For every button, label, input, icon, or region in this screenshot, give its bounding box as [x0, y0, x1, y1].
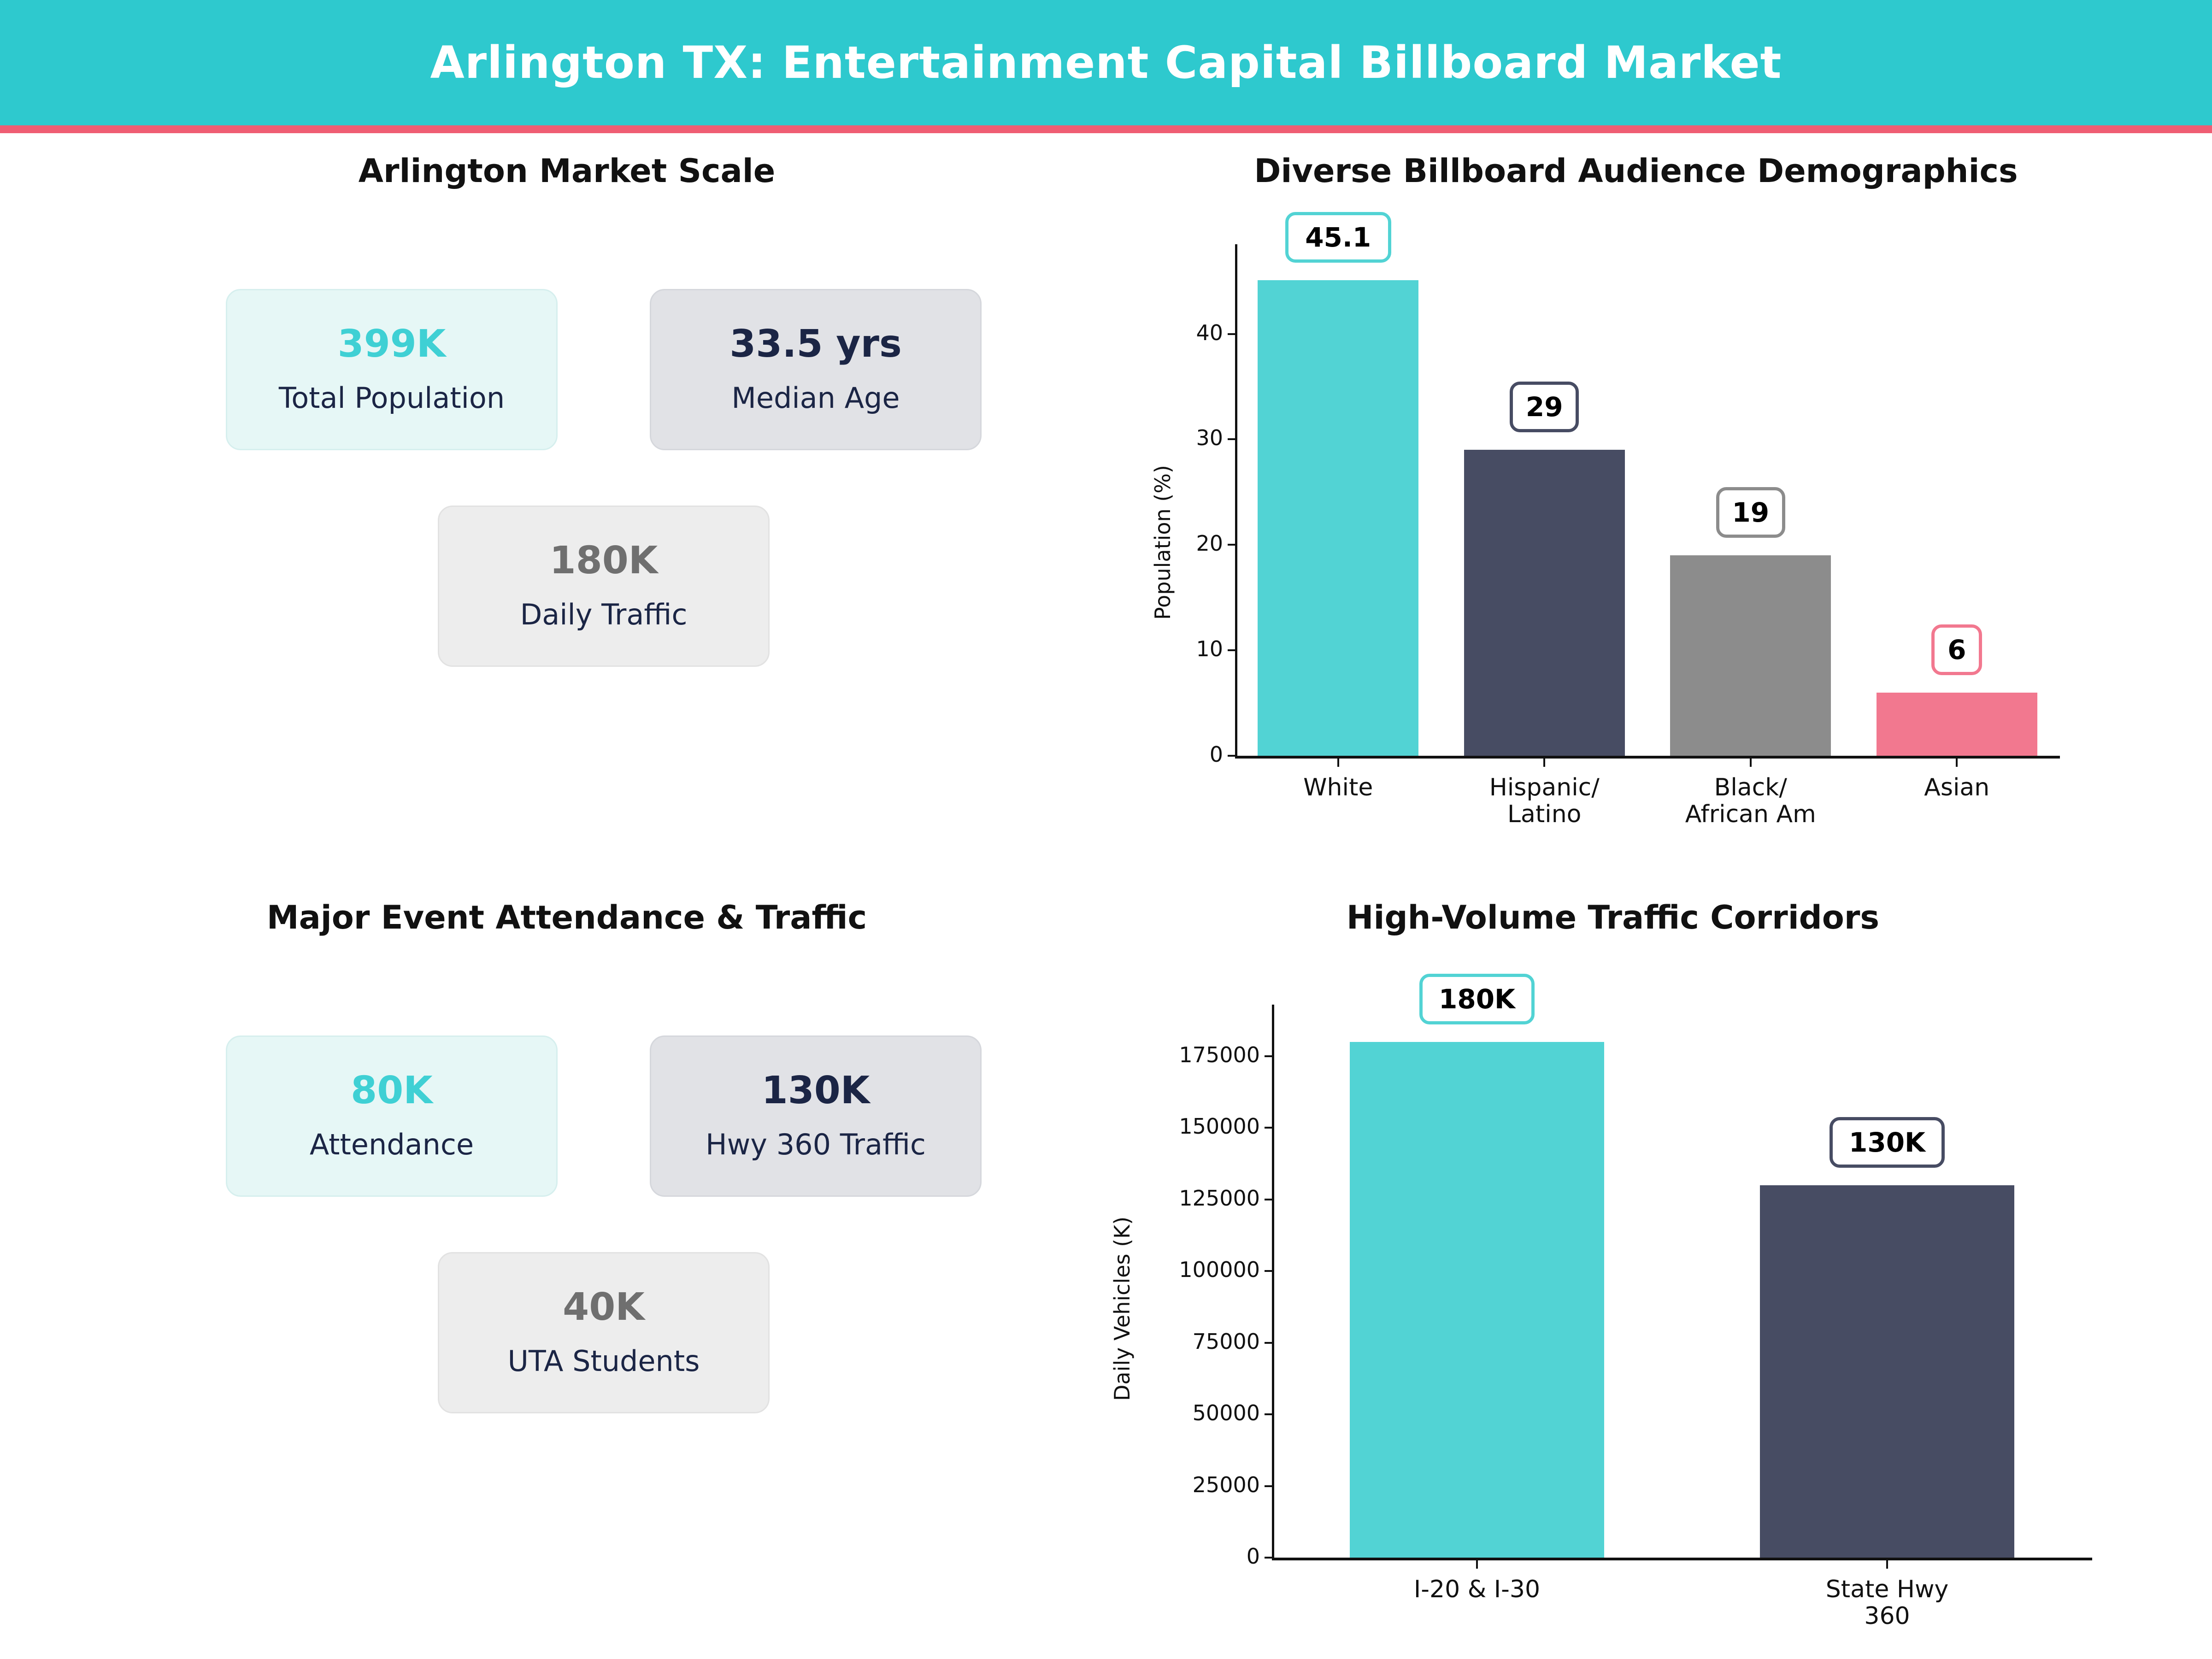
x-axis-tick-mark — [1956, 759, 1958, 767]
market-scale-cards: 399K Total Population 33.5 yrs Median Ag… — [226, 289, 1101, 750]
kpi-label: Attendance — [310, 1128, 474, 1161]
kpi-value: 130K — [762, 1071, 870, 1111]
y-axis-tick-mark — [1228, 333, 1235, 335]
y-axis-tick-mark — [1265, 1055, 1272, 1057]
y-axis-tick-label: 50000 — [1103, 1400, 1260, 1425]
x-axis-tick-mark — [1750, 759, 1752, 767]
x-axis-tick-mark — [1337, 759, 1339, 767]
y-axis-tick-mark — [1265, 1557, 1272, 1559]
y-axis-tick-label: 40 — [1168, 320, 1223, 345]
page-title: Arlington TX: Entertainment Capital Bill… — [430, 37, 1782, 88]
kpi-value: 180K — [550, 541, 658, 581]
y-axis-tick-mark — [1265, 1413, 1272, 1415]
y-axis-tick-mark — [1265, 1485, 1272, 1487]
kpi-label: Total Population — [279, 381, 505, 415]
kpi-card-hwy360-traffic[interactable]: 130K Hwy 360 Traffic — [650, 1035, 982, 1197]
y-axis-tick-label: 150000 — [1103, 1114, 1260, 1139]
y-axis-tick-label: 20 — [1168, 531, 1223, 556]
kpi-card-daily-traffic[interactable]: 180K Daily Traffic — [438, 506, 770, 667]
x-axis-tick-label: I-20 & I-30 — [1272, 1576, 1682, 1603]
kpi-label: Hwy 360 Traffic — [706, 1128, 926, 1161]
y-axis-line — [1272, 1005, 1274, 1558]
x-axis-tick-label: White — [1235, 774, 1441, 801]
y-axis-tick-label: 10 — [1168, 636, 1223, 661]
y-axis-tick-label: 0 — [1168, 742, 1223, 767]
header-accent-rule — [0, 125, 2212, 133]
x-axis-tick-mark — [1476, 1560, 1478, 1569]
y-axis-tick-label: 100000 — [1103, 1257, 1260, 1282]
y-axis-tick-label: 25000 — [1103, 1472, 1260, 1497]
market-scale-title: Arlington Market Scale — [129, 152, 1005, 190]
bar[interactable] — [1670, 555, 1831, 756]
panel-event-attendance: Major Event Attendance & Traffic 80K Att… — [129, 899, 1005, 1498]
x-axis-line — [1235, 756, 2060, 759]
kpi-card-uta-students[interactable]: 40K UTA Students — [438, 1252, 770, 1413]
y-axis-line — [1235, 244, 1237, 756]
kpi-value: 399K — [338, 324, 446, 364]
demographics-chart: Population (%)01020304045.1White29Hispan… — [1106, 207, 2166, 871]
y-axis-tick-mark — [1228, 438, 1235, 440]
page-header: Arlington TX: Entertainment Capital Bill… — [0, 0, 2212, 125]
x-axis-tick-label: Asian — [1854, 774, 2060, 801]
event-attendance-title: Major Event Attendance & Traffic — [129, 899, 1005, 936]
x-axis-tick-label: Black/African Am — [1647, 774, 1854, 828]
traffic-corridors-chart: Daily Vehicles (K)0250005000075000100000… — [1060, 954, 2166, 1636]
y-axis-tick-mark — [1265, 1199, 1272, 1200]
kpi-value: 80K — [351, 1071, 433, 1111]
kpi-label: Daily Traffic — [520, 598, 688, 631]
y-axis-tick-mark — [1265, 1127, 1272, 1129]
y-axis-tick-label: 125000 — [1103, 1186, 1260, 1211]
event-attendance-cards: 80K Attendance 130K Hwy 360 Traffic 40K … — [226, 1035, 1101, 1496]
kpi-card-attendance[interactable]: 80K Attendance — [226, 1035, 558, 1197]
kpi-value: 40K — [563, 1288, 645, 1327]
bar-value-label: 29 — [1510, 382, 1579, 432]
y-axis-tick-label: 175000 — [1103, 1042, 1260, 1067]
kpi-card-total-population[interactable]: 399K Total Population — [226, 289, 558, 450]
demographics-title: Diverse Billboard Audience Demographics — [1106, 152, 2166, 190]
y-axis-tick-mark — [1228, 755, 1235, 757]
x-axis-tick-label: State Hwy360 — [1682, 1576, 2092, 1630]
bar[interactable] — [1350, 1042, 1604, 1558]
bar-value-label: 19 — [1716, 487, 1785, 538]
y-axis-tick-mark — [1228, 649, 1235, 651]
y-axis-title: Daily Vehicles (K) — [1110, 1217, 1135, 1401]
bar[interactable] — [1877, 693, 2037, 756]
bar-value-label: 130K — [1830, 1117, 1945, 1168]
y-axis-tick-label: 75000 — [1103, 1329, 1260, 1354]
kpi-value: 33.5 yrs — [729, 324, 902, 364]
kpi-label: Median Age — [731, 381, 900, 415]
panel-demographics: Diverse Billboard Audience Demographics … — [1106, 152, 2166, 871]
bar[interactable] — [1760, 1185, 2014, 1558]
bar-value-label: 6 — [1931, 624, 1982, 675]
bar[interactable] — [1258, 280, 1418, 756]
bar-value-label: 45.1 — [1285, 212, 1391, 263]
y-axis-tick-mark — [1265, 1342, 1272, 1344]
panel-traffic-corridors: High-Volume Traffic Corridors Daily Vehi… — [1060, 899, 2166, 1636]
x-axis-line — [1272, 1558, 2092, 1560]
kpi-card-median-age[interactable]: 33.5 yrs Median Age — [650, 289, 982, 450]
traffic-corridors-title: High-Volume Traffic Corridors — [1060, 899, 2166, 936]
x-axis-tick-mark — [1543, 759, 1545, 767]
bar[interactable] — [1464, 450, 1625, 756]
y-axis-tick-mark — [1228, 544, 1235, 546]
bar-value-label: 180K — [1419, 974, 1535, 1024]
panel-market-scale: Arlington Market Scale 399K Total Popula… — [129, 152, 1005, 751]
x-axis-tick-label: Hispanic/Latino — [1441, 774, 1648, 828]
y-axis-tick-mark — [1265, 1270, 1272, 1272]
y-axis-tick-label: 0 — [1103, 1544, 1260, 1569]
x-axis-tick-mark — [1886, 1560, 1888, 1569]
kpi-label: UTA Students — [508, 1344, 700, 1378]
y-axis-tick-label: 30 — [1168, 425, 1223, 450]
